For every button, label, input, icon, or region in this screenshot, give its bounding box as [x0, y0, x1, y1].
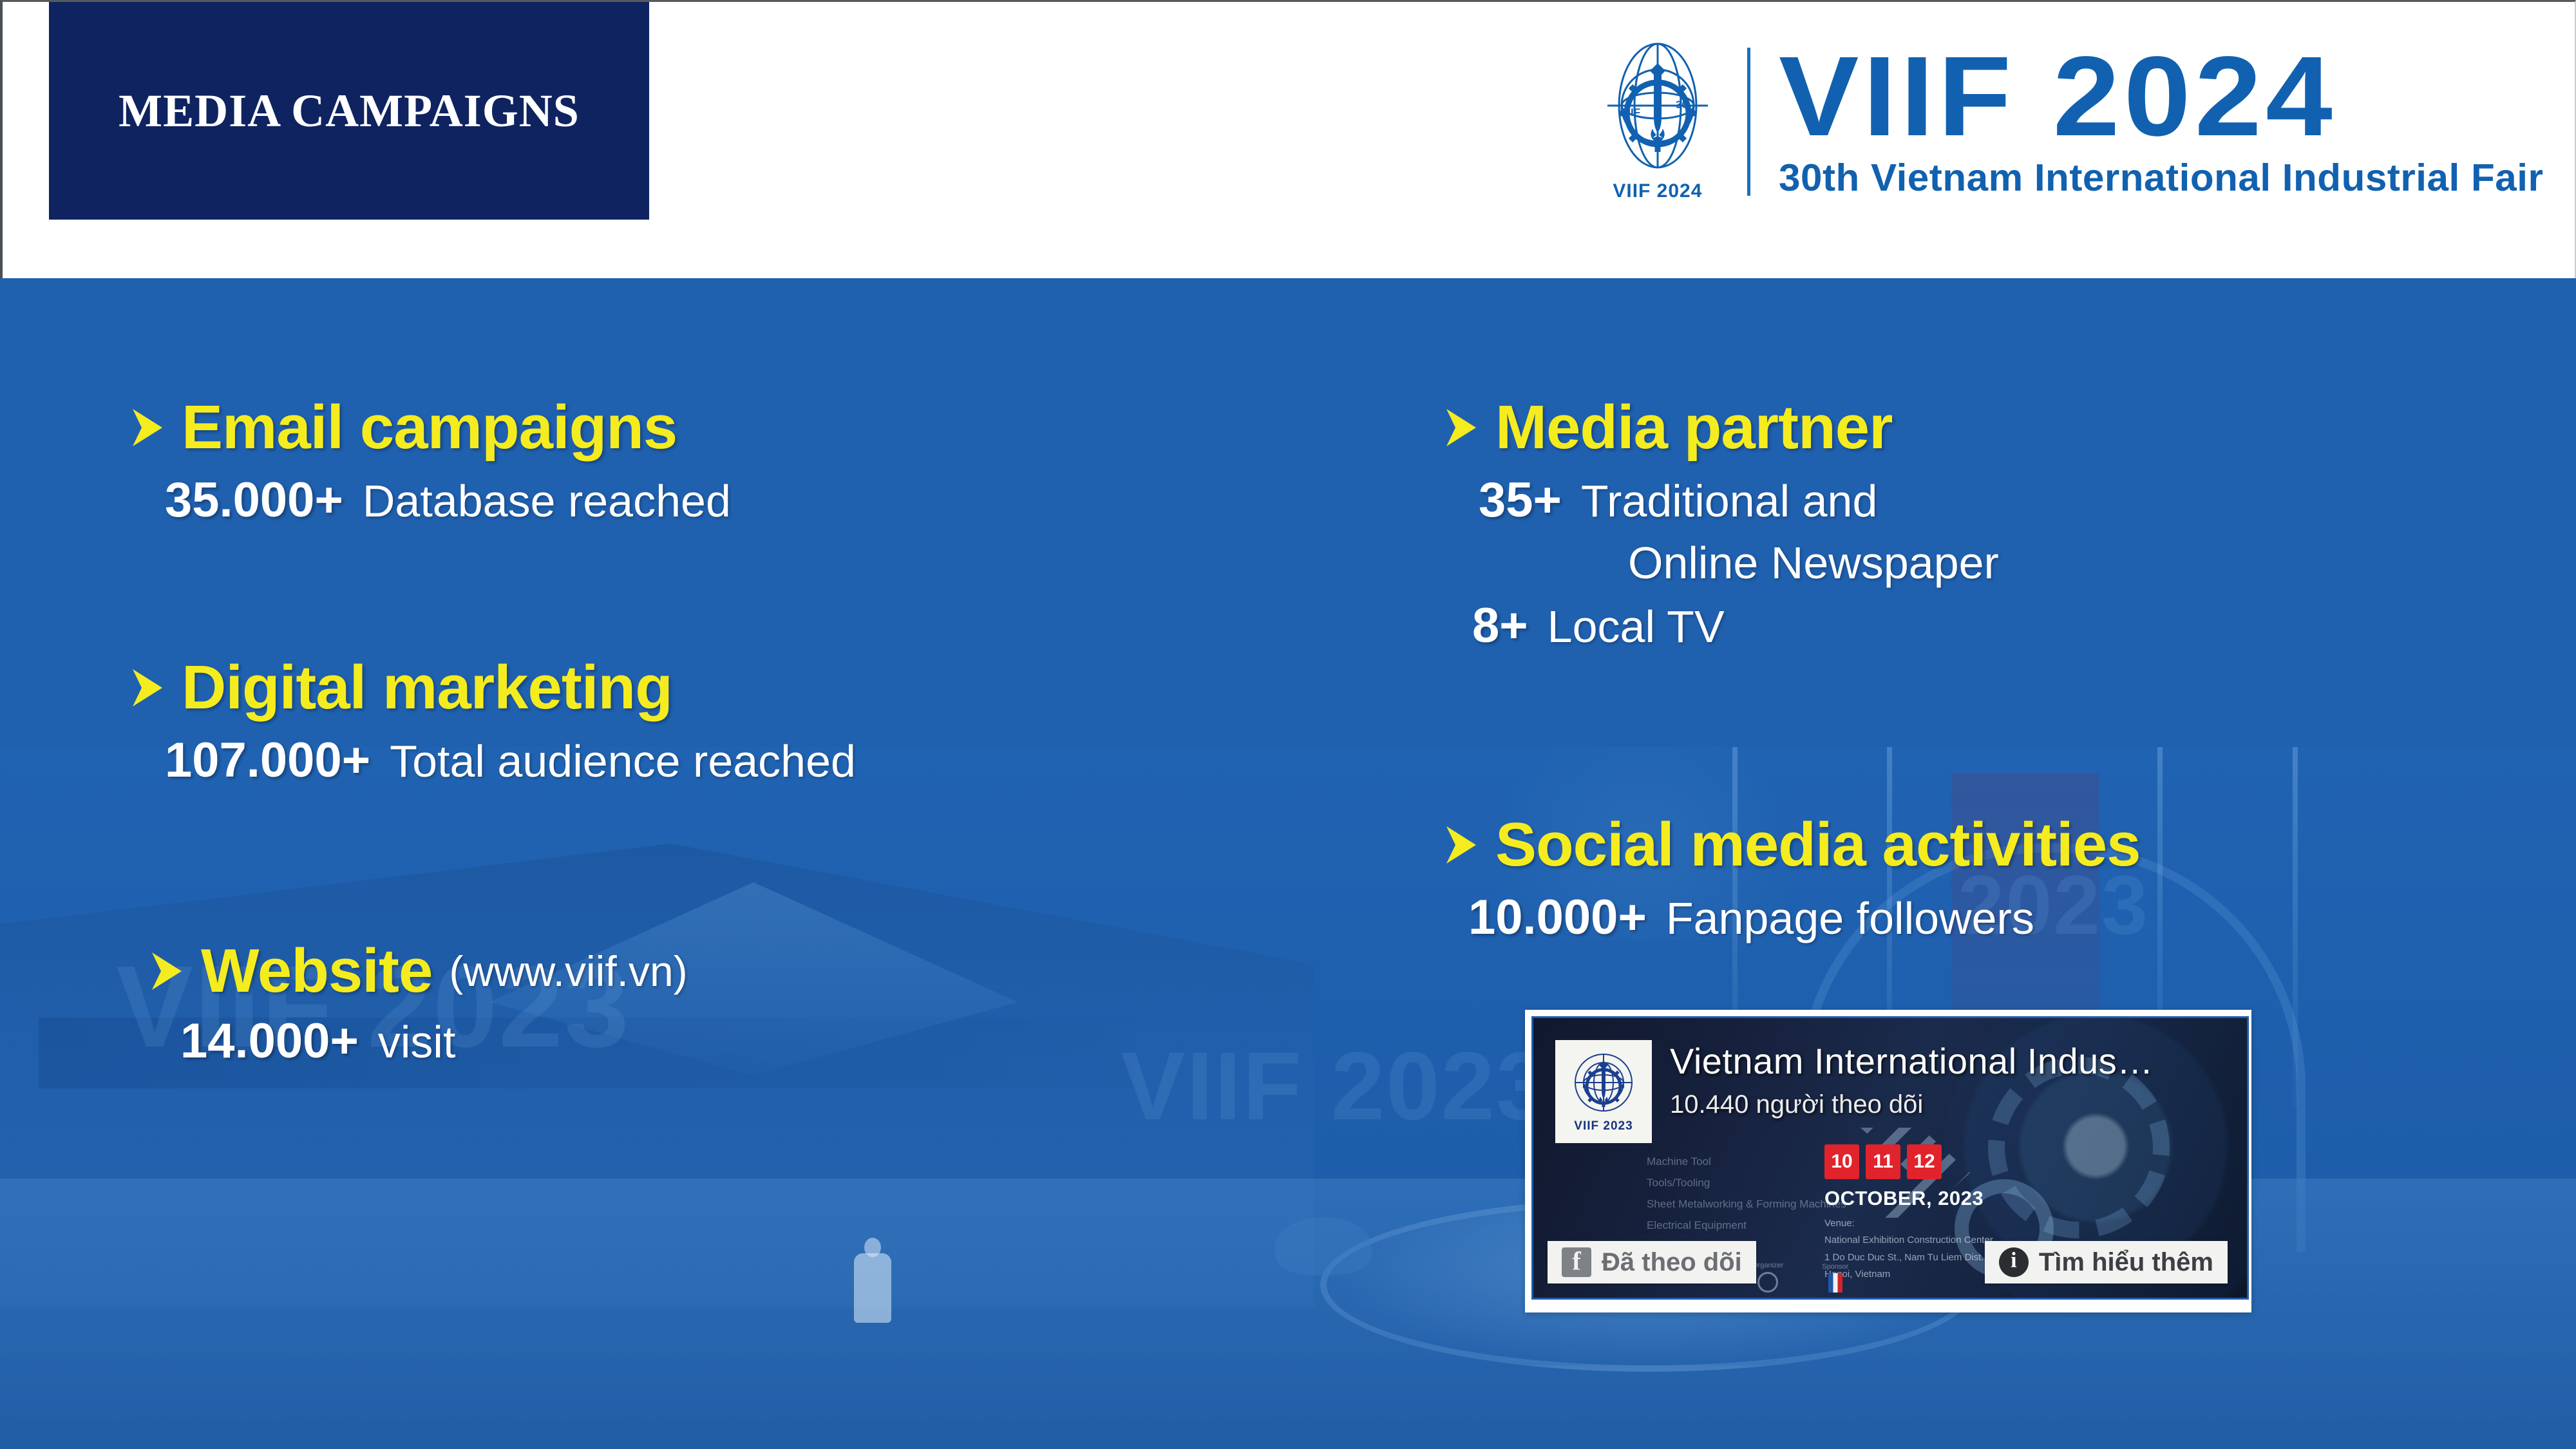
- stat-number: 14.000+: [180, 1013, 359, 1069]
- stat-continuation: Online Newspaper: [1628, 537, 1999, 589]
- cover-date-chips: 10 11 12: [1824, 1144, 1942, 1179]
- viif-globe-gear-icon: VIIF 30: [1601, 41, 1714, 176]
- organizer-label: Organizer: [1752, 1262, 1783, 1269]
- cover-venue: Venue: National Exhibition Construction …: [1824, 1215, 1995, 1283]
- sponsor-logo-icon: [1828, 1273, 1842, 1293]
- arrow-bullet-icon: [129, 667, 165, 709]
- heading-label: Website: [201, 939, 432, 1004]
- heading-label: Email campaigns: [182, 395, 677, 460]
- stat-row: 107.000+ Total audience reached: [165, 732, 856, 788]
- arrow-bullet-icon: [129, 406, 165, 449]
- heading-row: Social media activities: [1443, 813, 2141, 878]
- block-email-campaigns: Email campaigns 35.000+ Database reached: [129, 395, 731, 528]
- facebook-page-card[interactable]: VIIF 2023 Vietnam International Indus… 1…: [1525, 1010, 2251, 1312]
- cover-sponsors: Organizer Sponsor: [1752, 1262, 1848, 1293]
- arrow-bullet-icon: [1443, 406, 1479, 449]
- stat-number: 35+: [1479, 472, 1562, 528]
- date-chip: 12: [1907, 1144, 1942, 1179]
- stat-row-secondary: 8+ Local TV: [1472, 598, 1999, 654]
- follow-button-label: Đã theo dõi: [1602, 1248, 1742, 1277]
- stat-label: Database reached: [363, 475, 731, 527]
- stat-row: 35.000+ Database reached: [165, 472, 731, 528]
- venue-line: National Exhibition Construction Center,: [1824, 1232, 1995, 1249]
- slide-body: Email campaigns 35.000+ Database reached…: [0, 278, 2576, 1449]
- heading-label: Social media activities: [1495, 813, 2141, 878]
- block-social-media: Social media activities 10.000+ Fanpage …: [1443, 813, 2141, 945]
- wordmark-main: VIIF 2024: [1779, 45, 2573, 149]
- heading-row: Website (www.viif.vn): [148, 939, 688, 1004]
- stat-number: 107.000+: [165, 732, 370, 788]
- viif-2023-emblem-icon: [1570, 1050, 1637, 1117]
- slide-header: MEDIA CAMPAIGNS: [0, 0, 2576, 278]
- page-title: MEDIA CAMPAIGNS: [118, 84, 580, 138]
- arrow-bullet-icon: [148, 950, 184, 992]
- block-media-partner: Media partner 35+ Traditional and Online…: [1443, 395, 1999, 654]
- stat-number-secondary: 8+: [1472, 598, 1528, 654]
- stat-number: 10.000+: [1468, 889, 1647, 945]
- learn-more-button-label: Tìm hiểu thêm: [2039, 1248, 2213, 1277]
- block-digital-marketing: Digital marketing 107.000+ Total audienc…: [129, 656, 856, 788]
- stat-number: 35.000+: [165, 472, 343, 528]
- heading-label: Digital marketing: [182, 656, 672, 721]
- sponsor-label: Sponsor: [1822, 1263, 1848, 1271]
- heading-row: Digital marketing: [129, 656, 856, 721]
- list-item: Sheet Metalworking & Forming Machines: [1647, 1193, 1846, 1215]
- slide-root: VIIF 2023 VIIF 2023 2023 MEDIA CAMPAIGNS: [0, 0, 2576, 1449]
- svg-text:VIIF: VIIF: [1620, 106, 1640, 118]
- svg-text:30: 30: [1676, 99, 1688, 111]
- viif-wordmark: VIIF 2024 30th Vietnam International Ind…: [1779, 45, 2528, 199]
- heading-row: Media partner: [1443, 395, 1999, 460]
- date-chip: 11: [1866, 1144, 1900, 1179]
- facebook-icon: [1562, 1247, 1591, 1277]
- venue-line: Venue:: [1824, 1215, 1995, 1232]
- stat-row: 10.000+ Fanpage followers: [1468, 889, 2141, 945]
- stat-row: 14.000+ visit: [180, 1013, 688, 1069]
- venue-line: 1 Do Duc Duc St., Nam Tu Liem Dist.,: [1824, 1249, 1995, 1266]
- facebook-cover: VIIF 2023 Vietnam International Indus… 1…: [1531, 1016, 2249, 1300]
- info-icon: [1999, 1247, 2029, 1277]
- cover-month-year: OCTOBER, 2023: [1824, 1187, 1984, 1210]
- viif-logo-lockup: VIIF 30 VIIF 2024 VIIF 2024 30th Vietnam…: [1596, 32, 2528, 212]
- stat-label: Total audience reached: [390, 735, 856, 787]
- title-block: MEDIA CAMPAIGNS: [49, 2, 649, 220]
- organizer-group: Organizer: [1752, 1262, 1783, 1293]
- viif-emblem: VIIF 30 VIIF 2024: [1596, 41, 1719, 202]
- page-avatar: VIIF 2023: [1555, 1040, 1652, 1143]
- page-followers-text: 10.440 người theo dõi: [1670, 1090, 1923, 1119]
- list-item: Electrical Equipment: [1647, 1215, 1846, 1236]
- venue-line: Hanoi, Vietnam: [1824, 1266, 1995, 1283]
- block-website: Website (www.viif.vn) 14.000+ visit: [148, 939, 688, 1069]
- page-title-text: Vietnam International Indus…: [1670, 1040, 2154, 1082]
- stat-label-secondary: Local TV: [1548, 601, 1725, 652]
- sponsor-group: Sponsor: [1822, 1263, 1848, 1293]
- date-chip: 10: [1824, 1144, 1859, 1179]
- avatar-caption: VIIF 2023: [1574, 1119, 1633, 1133]
- list-item: Machine Tool: [1647, 1151, 1846, 1172]
- arrow-bullet-icon: [1443, 824, 1479, 866]
- stat-row: 35+ Traditional and: [1479, 472, 1999, 528]
- stat-label: visit: [378, 1016, 456, 1068]
- logo-divider: [1747, 48, 1750, 196]
- organizer-logo-icon: [1757, 1272, 1778, 1293]
- website-url-note: (www.viif.vn): [449, 947, 687, 996]
- learn-more-button[interactable]: Tìm hiểu thêm: [1985, 1241, 2228, 1283]
- emblem-caption: VIIF 2024: [1613, 180, 1702, 202]
- follow-button[interactable]: Đã theo dõi: [1548, 1241, 1756, 1283]
- wordmark-sub: 30th Vietnam International Industrial Fa…: [1779, 157, 2543, 199]
- stat-label: Traditional and: [1581, 475, 1877, 527]
- stat-label: Fanpage followers: [1666, 893, 2034, 944]
- list-item: Tools/Tooling: [1647, 1172, 1846, 1193]
- heading-row: Email campaigns: [129, 395, 731, 460]
- heading-label: Media partner: [1495, 395, 1892, 460]
